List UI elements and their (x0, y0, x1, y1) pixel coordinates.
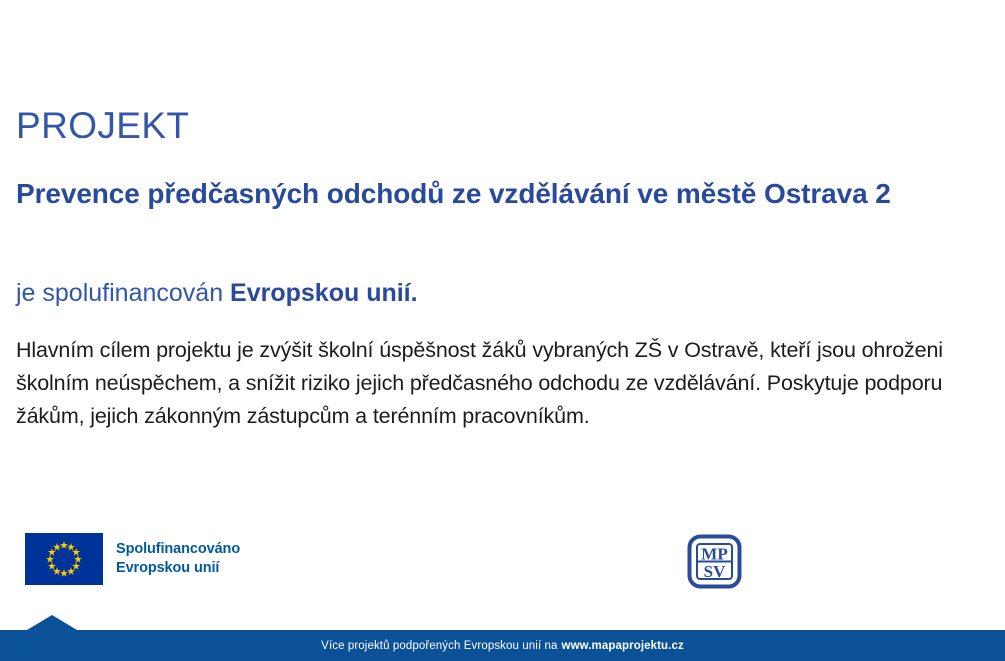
footer-text-label: Více projektů podpořených Evropskou unií… (321, 640, 557, 652)
svg-text:SV: SV (704, 562, 726, 581)
eu-logo-caption: Spolufinancováno Evropskou unií (116, 540, 240, 578)
cofinanced-statement: je spolufinancován Evropskou unií. (16, 276, 418, 310)
cofinanced-emphasis: Evropskou unií. (230, 279, 418, 307)
poster-page: PROJEKT Prevence předčasných odchodů ze … (0, 0, 1005, 661)
eu-flag-icon (25, 533, 103, 585)
footer-notch-triangle (27, 615, 77, 630)
project-description: Hlavním cílem projektu je zvýšit školní … (16, 334, 982, 433)
footer-text: Více projektů podpořených Evropskou unií… (0, 630, 1005, 661)
svg-text:MP: MP (701, 545, 727, 564)
page-title: Prevence předčasných odchodů ze vzdělává… (16, 174, 966, 214)
eu-cofunding-logo: Spolufinancováno Evropskou unií (25, 533, 240, 585)
footer-link[interactable]: www.mapaprojektu.cz (562, 640, 684, 652)
eu-logo-caption-line2: Evropskou unií (116, 559, 240, 578)
cofinanced-prefix: je spolufinancován (16, 279, 230, 307)
eu-logo-caption-line1: Spolufinancováno (116, 540, 240, 559)
mpsv-logo-icon: MP SV (686, 533, 743, 590)
eyebrow-label: PROJEKT (16, 104, 189, 148)
